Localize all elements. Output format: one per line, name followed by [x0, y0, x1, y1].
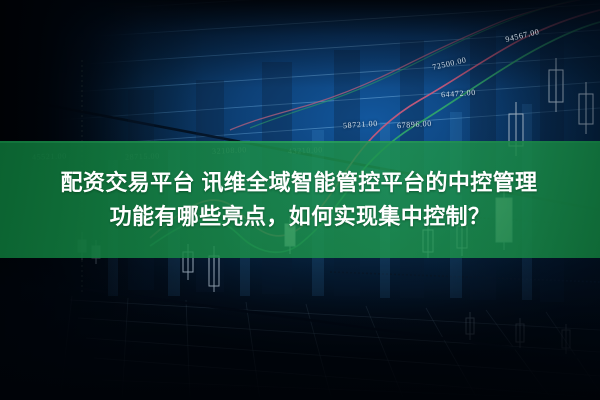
headline-block: 配资交易平台 讯维全域智能管控平台的中控管理 功能有哪些亮点，如何实现集中控制？ — [0, 141, 600, 258]
screenshot-stage: 94567.00 72500.00 64472.00 58721.00 6789… — [0, 0, 600, 400]
headline-line-1: 配资交易平台 讯维全域智能管控平台的中控管理 — [61, 168, 538, 198]
headline-line-2: 功能有哪些亮点，如何实现集中控制？ — [110, 202, 491, 232]
